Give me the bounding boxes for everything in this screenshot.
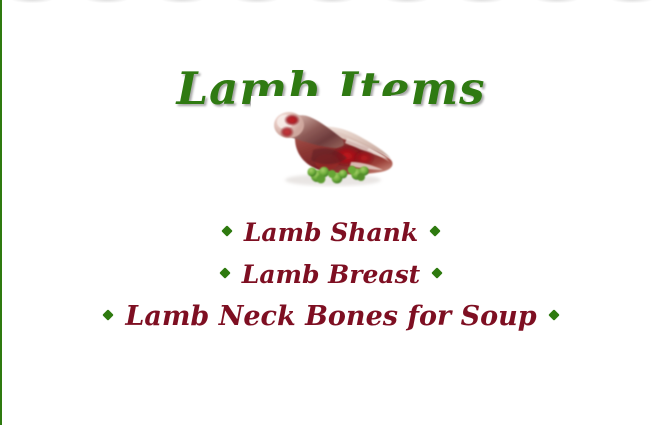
list-item[interactable]: Lamb Neck Bones for Soup [2, 296, 658, 338]
lamb-item-list: Lamb Shank Lamb Breast Lamb Neck Bones f… [2, 212, 658, 338]
diamond-bullet-icon [432, 268, 443, 279]
list-item-label: Lamb Neck Bones for Soup [116, 301, 545, 332]
lamb-photo-container [2, 96, 658, 200]
list-item[interactable]: Lamb Shank [2, 212, 658, 254]
lamb-items-page: Lamb Items [0, 0, 658, 425]
list-item[interactable]: Lamb Breast [2, 254, 658, 296]
diamond-bullet-icon [548, 310, 559, 321]
diamond-bullet-icon [221, 226, 232, 237]
list-item-label: Lamb Shank [235, 218, 427, 247]
diamond-bullet-icon [103, 310, 114, 321]
diamond-bullet-icon [430, 226, 441, 237]
list-item-label: Lamb Breast [233, 260, 429, 289]
diamond-bullet-icon [219, 268, 230, 279]
top-edge-shadow-strip [2, 0, 658, 7]
lamb-shank-photo [251, 96, 411, 200]
